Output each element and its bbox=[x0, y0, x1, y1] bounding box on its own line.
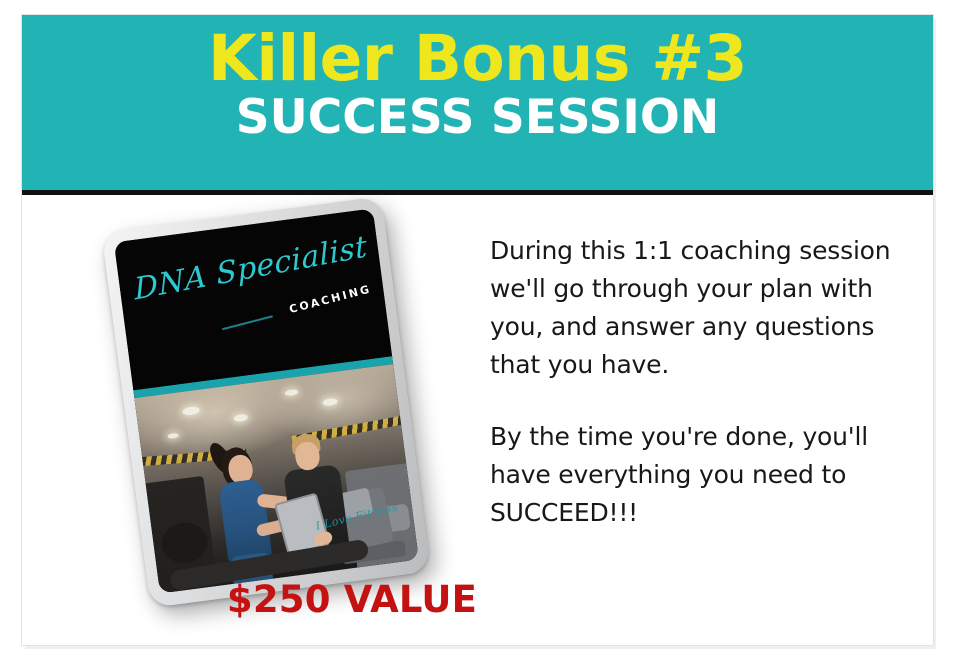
page-title: Killer Bonus #3 bbox=[208, 21, 747, 91]
page-subtitle: SUCCESS SESSION bbox=[236, 91, 719, 142]
camera-dot-icon bbox=[241, 220, 244, 223]
ceiling-light bbox=[233, 413, 248, 422]
cover-photo-gym-scene: I Love Fitness bbox=[134, 364, 419, 594]
copy-paragraph-2: By the time you're done, you'll have eve… bbox=[490, 418, 920, 532]
camera-dot-icon bbox=[258, 218, 261, 221]
camera-dot-icon bbox=[224, 222, 227, 225]
copy-spacer bbox=[490, 384, 920, 418]
ceiling-light bbox=[167, 432, 179, 438]
product-mockup: DNA Specialist COACHING bbox=[107, 203, 427, 613]
promo-copy: During this 1:1 coaching session we'll g… bbox=[490, 232, 920, 532]
ceiling-light bbox=[322, 397, 338, 406]
ceiling-light bbox=[285, 388, 299, 396]
value-badge: $250 VALUE bbox=[22, 578, 682, 621]
promo-header: Killer Bonus #3 SUCCESS SESSION bbox=[22, 15, 933, 190]
cover-underline-rule bbox=[222, 315, 273, 330]
ceiling-light bbox=[182, 405, 200, 415]
client-figure bbox=[218, 478, 272, 563]
tablet-screen: DNA Specialist COACHING bbox=[114, 208, 419, 593]
tablet-device: DNA Specialist COACHING bbox=[102, 196, 431, 608]
promo-card: Killer Bonus #3 SUCCESS SESSION DNA Spec… bbox=[0, 0, 956, 661]
cover-kicker-label: COACHING bbox=[287, 282, 372, 316]
copy-paragraph-1: During this 1:1 coaching session we'll g… bbox=[490, 232, 920, 384]
